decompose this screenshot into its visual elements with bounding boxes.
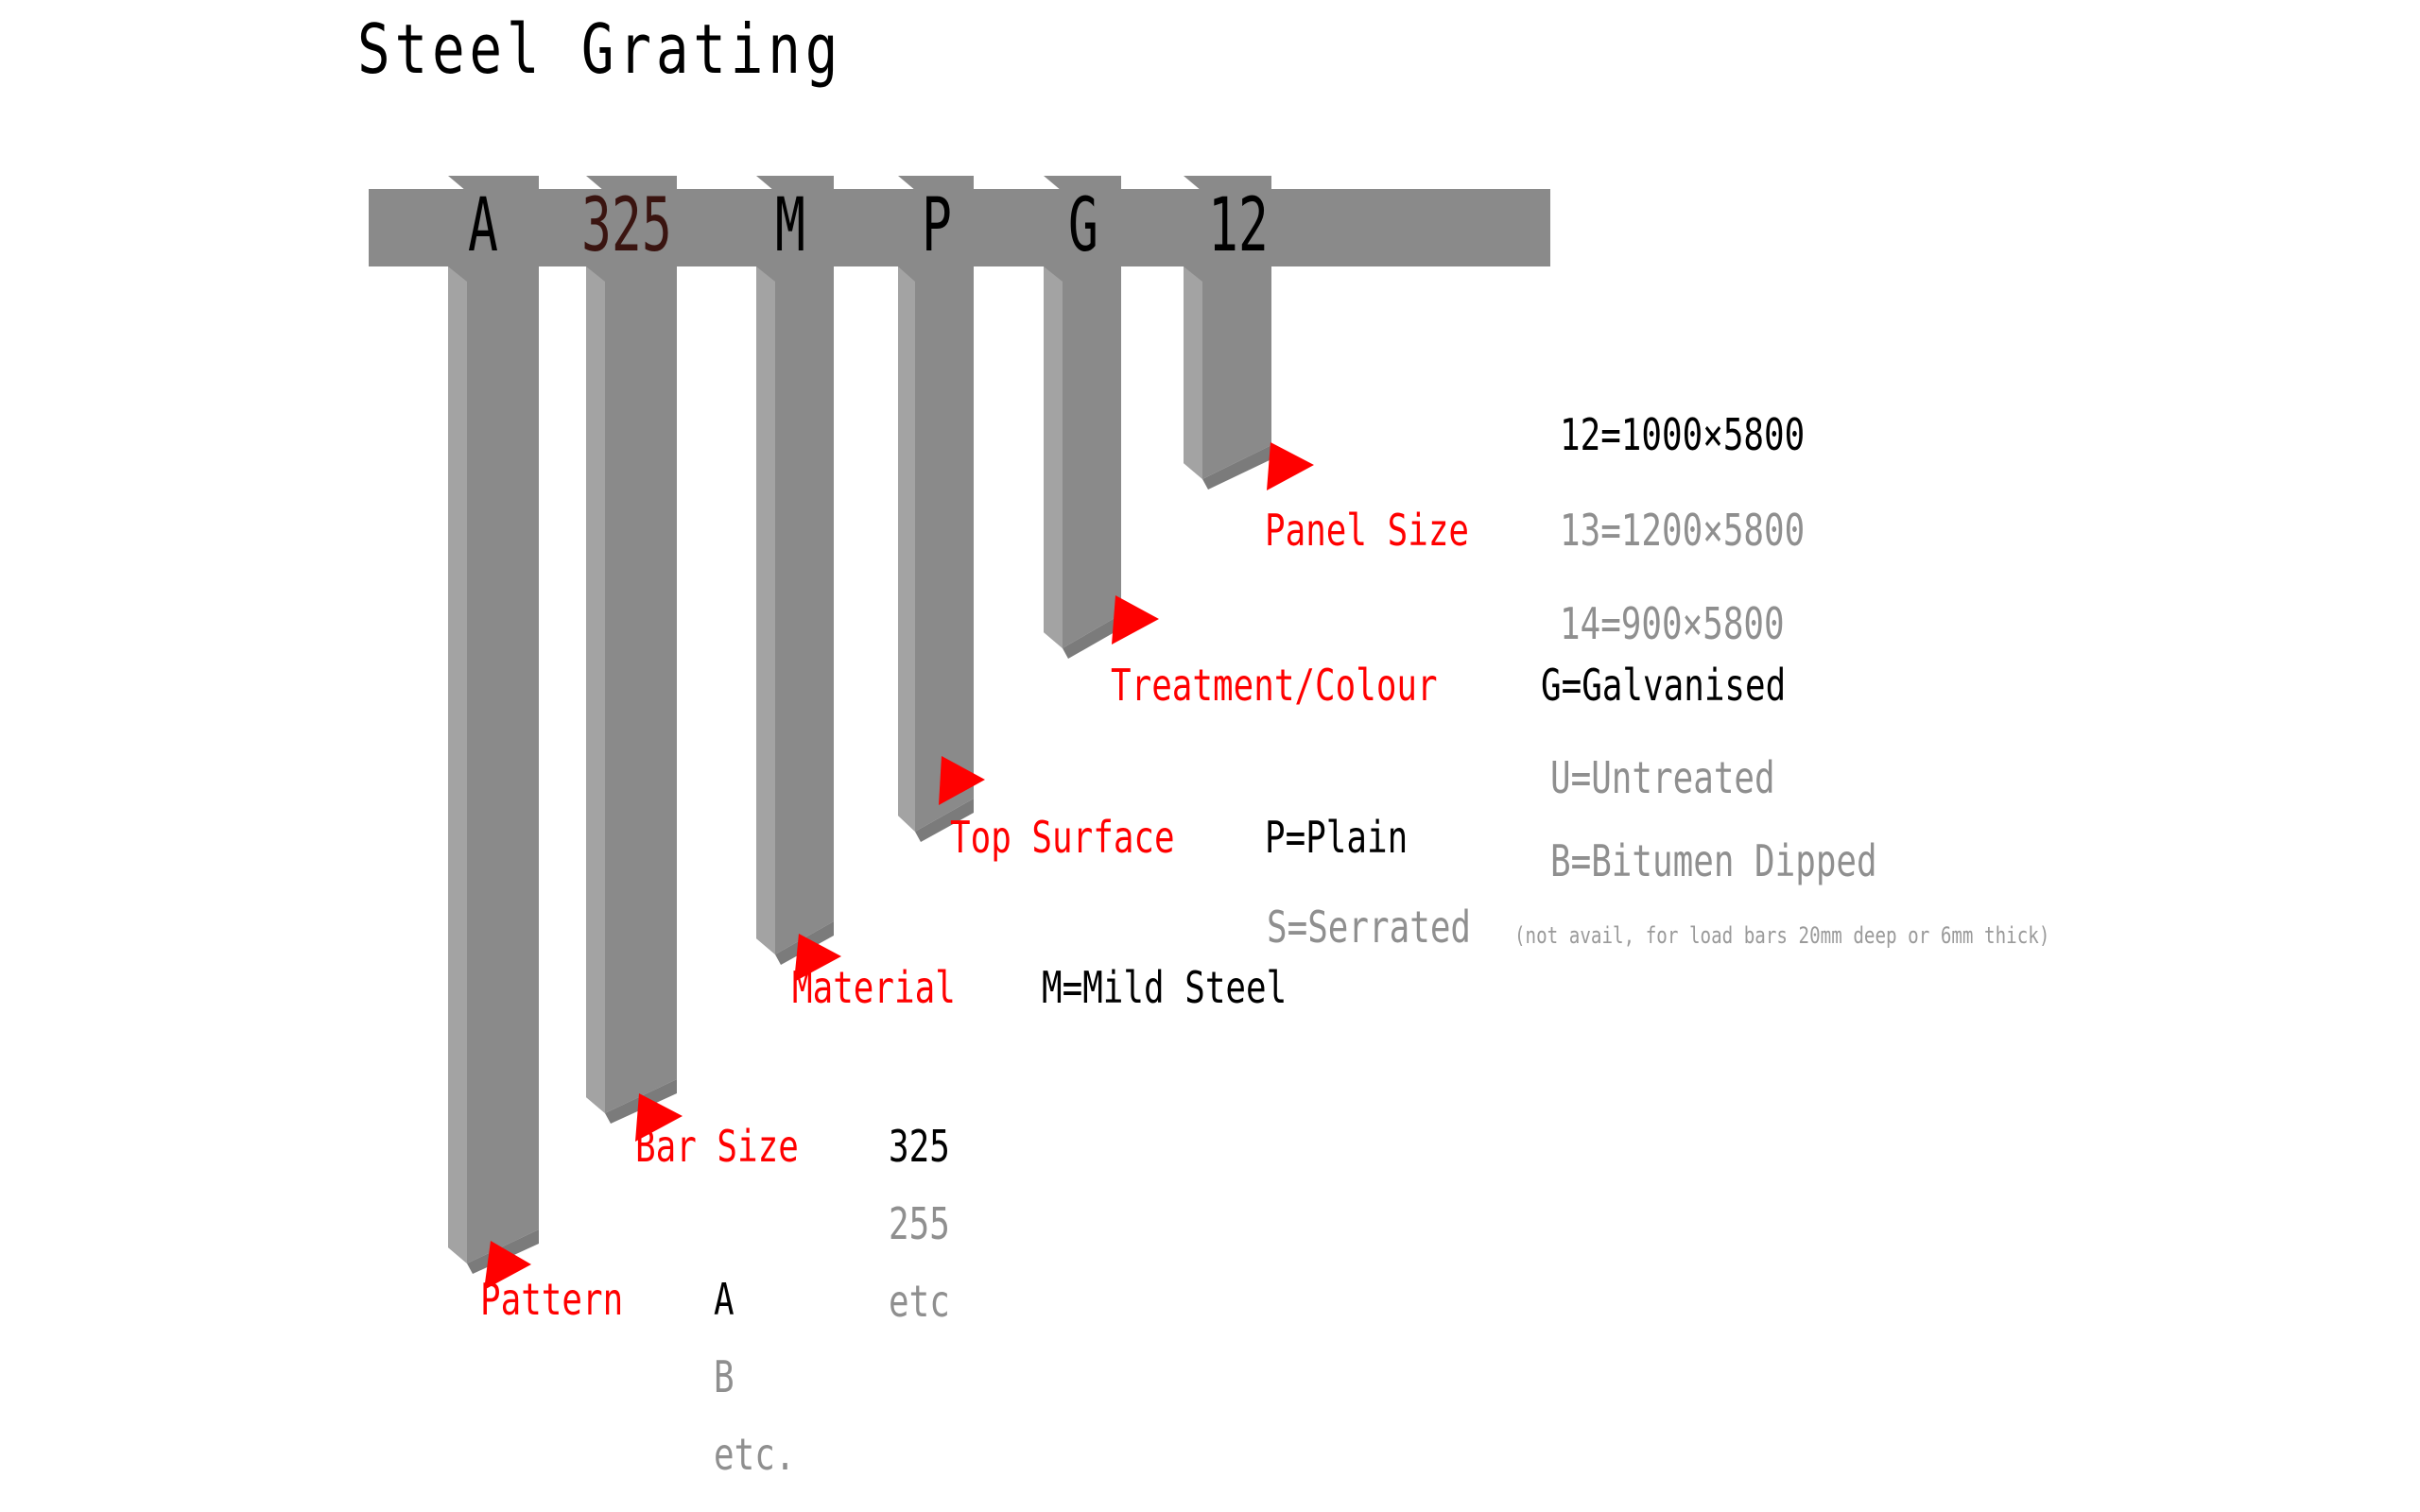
callout-label-panel-size: Panel Size	[1265, 508, 1469, 552]
code-rail	[369, 189, 1550, 266]
option-panel-size-14: 14=900×5800	[1560, 602, 1785, 645]
option-pattern-etc: etc.	[714, 1433, 795, 1476]
option-treatment-untreated: U=Untreated	[1550, 756, 1775, 799]
option-top-surface-plain: P=Plain	[1265, 816, 1408, 859]
option-top-surface-serrated: S=Serrated	[1267, 905, 1471, 949]
code-segment-panel-size: 12	[1208, 189, 1269, 263]
callout-label-treatment-colour: Treatment/Colour	[1111, 663, 1438, 707]
option-panel-size-13: 13=1200×5800	[1560, 508, 1805, 552]
option-bar-size-325: 325	[889, 1125, 950, 1168]
option-panel-size-12: 12=1000×5800	[1560, 413, 1805, 456]
callout-label-top-surface: Top Surface	[950, 816, 1175, 859]
rail-tabs	[448, 176, 1271, 191]
callout-label-material: Material	[792, 966, 956, 1009]
leg-bar-size	[586, 266, 677, 1124]
code-segment-treatment-colour: G	[1068, 189, 1098, 263]
callout-label-bar-size: Bar Size	[635, 1125, 799, 1168]
arrow-panel-size	[1267, 442, 1314, 490]
leg-material	[756, 266, 834, 965]
option-bar-size-255: 255	[889, 1202, 950, 1246]
arrow-treatment-colour	[1112, 595, 1159, 644]
arrow-top-surface	[939, 756, 985, 805]
leg-pattern	[448, 266, 539, 1274]
option-bar-size-etc: etc	[889, 1280, 950, 1323]
code-segment-material: M	[775, 189, 805, 263]
leg-top-surface	[898, 266, 974, 842]
option-treatment-bitumen: B=Bitumen Dipped	[1550, 839, 1877, 883]
option-top-surface-note: (not avail, for load bars 20mm deep or 6…	[1514, 924, 2049, 947]
diagram-canvas: Steel Grating	[0, 0, 2420, 1512]
code-segment-top-surface: P	[922, 189, 952, 263]
leg-panel-size	[1184, 266, 1271, 490]
code-segment-bar-size: 325	[581, 189, 672, 263]
leg-treatment-colour	[1044, 266, 1121, 659]
page-title: Steel Grating	[357, 9, 842, 89]
option-material-mild-steel: M=Mild Steel	[1042, 966, 1287, 1009]
option-pattern-b: B	[714, 1355, 735, 1399]
option-treatment-galvanised: G=Galvanised	[1541, 663, 1786, 707]
callout-label-pattern: Pattern	[480, 1278, 623, 1321]
option-pattern-a: A	[714, 1278, 735, 1321]
code-segment-pattern: A	[468, 189, 498, 263]
